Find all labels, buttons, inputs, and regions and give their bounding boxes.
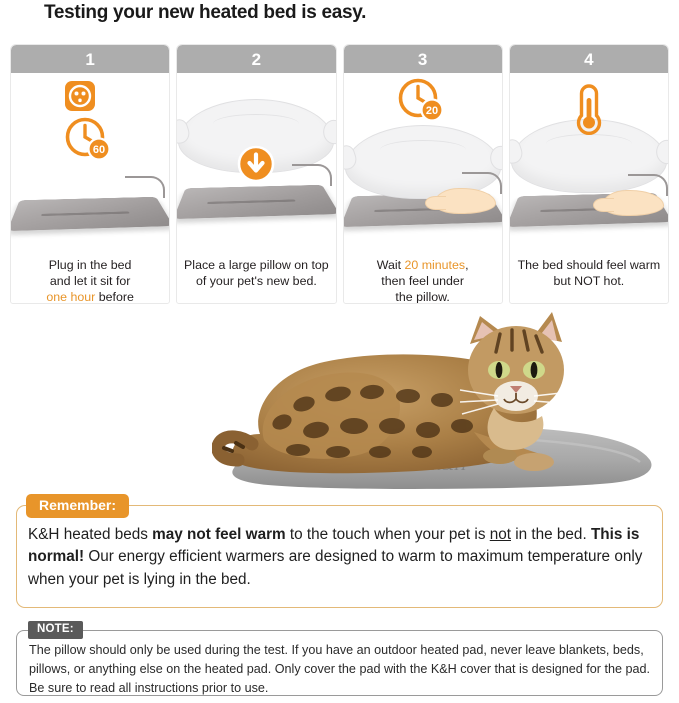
cat-on-bed-photo: K&H [212,300,672,495]
step-art-1: 60 [11,73,169,250]
pillow-seam [380,140,466,160]
heated-pad-illustration [177,185,335,219]
clock-60-icon: 60 [64,116,116,167]
pillow-seam [213,114,299,134]
step-number-3: 3 [344,45,502,73]
step-caption-3: Wait 20 minutes,then feel underthe pillo… [344,250,502,304]
note-text: The pillow should only be used during th… [29,641,653,698]
step-art-4 [510,73,668,250]
steps-row: 1 60 [10,44,669,304]
power-cord-illustration [125,176,165,198]
clock-badge-20-text: 20 [426,105,438,117]
power-cord-illustration [462,172,502,194]
remember-l1a: K&H heated beds [28,526,152,543]
bengal-cat [218,312,572,473]
thermometer-icon [573,81,605,144]
step-caption-1: Plug in the bedand let it sit forone hou… [11,250,169,304]
remember-bold-1: may not feel warm [152,526,285,543]
caption-highlight: one hour [46,290,95,304]
step-art-3: 20 [344,73,502,250]
heated-pad-illustration [11,197,169,231]
caption-highlight: 20 minutes [404,258,465,272]
step-caption-2: Place a large pillow on top of your pet'… [177,250,335,290]
remember-underline: not [490,526,511,543]
instruction-sheet: Testing your new heated bed is easy. 1 [0,0,679,703]
remember-badge: Remember: [26,494,129,518]
remember-text: K&H heated beds may not feel warm to the… [28,524,656,591]
step-card-1: 1 60 [10,44,170,304]
remember-l2b: Our energy efficient warmers are designe… [84,548,394,565]
clock-badge-60-text: 60 [93,144,105,156]
down-arrow-icon [237,145,275,188]
remember-l1b: to the touch when your pet is [286,526,490,543]
step-caption-4: The bed should feel warm but NOT hot. [510,250,668,290]
step-number-2: 2 [177,45,335,73]
step-art-2 [177,73,335,250]
power-cord-illustration [292,164,332,186]
caption-line: Plug in the bedand let it sit for [49,258,132,288]
step-card-3: 3 20 Wait 20 minutes,the [343,44,503,304]
power-cord-illustration [628,174,668,196]
remember-l2a: in the bed. [515,526,591,543]
note-badge: NOTE: [28,621,83,639]
page-title: Testing your new heated bed is easy. [44,2,366,24]
step-card-4: 4 The bed should feel warm but NOT hot. [509,44,669,304]
step-number-1: 1 [11,45,169,73]
step-number-4: 4 [510,45,668,73]
step-card-2: 2 Place a large pillow on top of your pe… [176,44,336,304]
clock-20-icon: 20 [397,77,449,128]
outlet-icon [63,79,97,118]
